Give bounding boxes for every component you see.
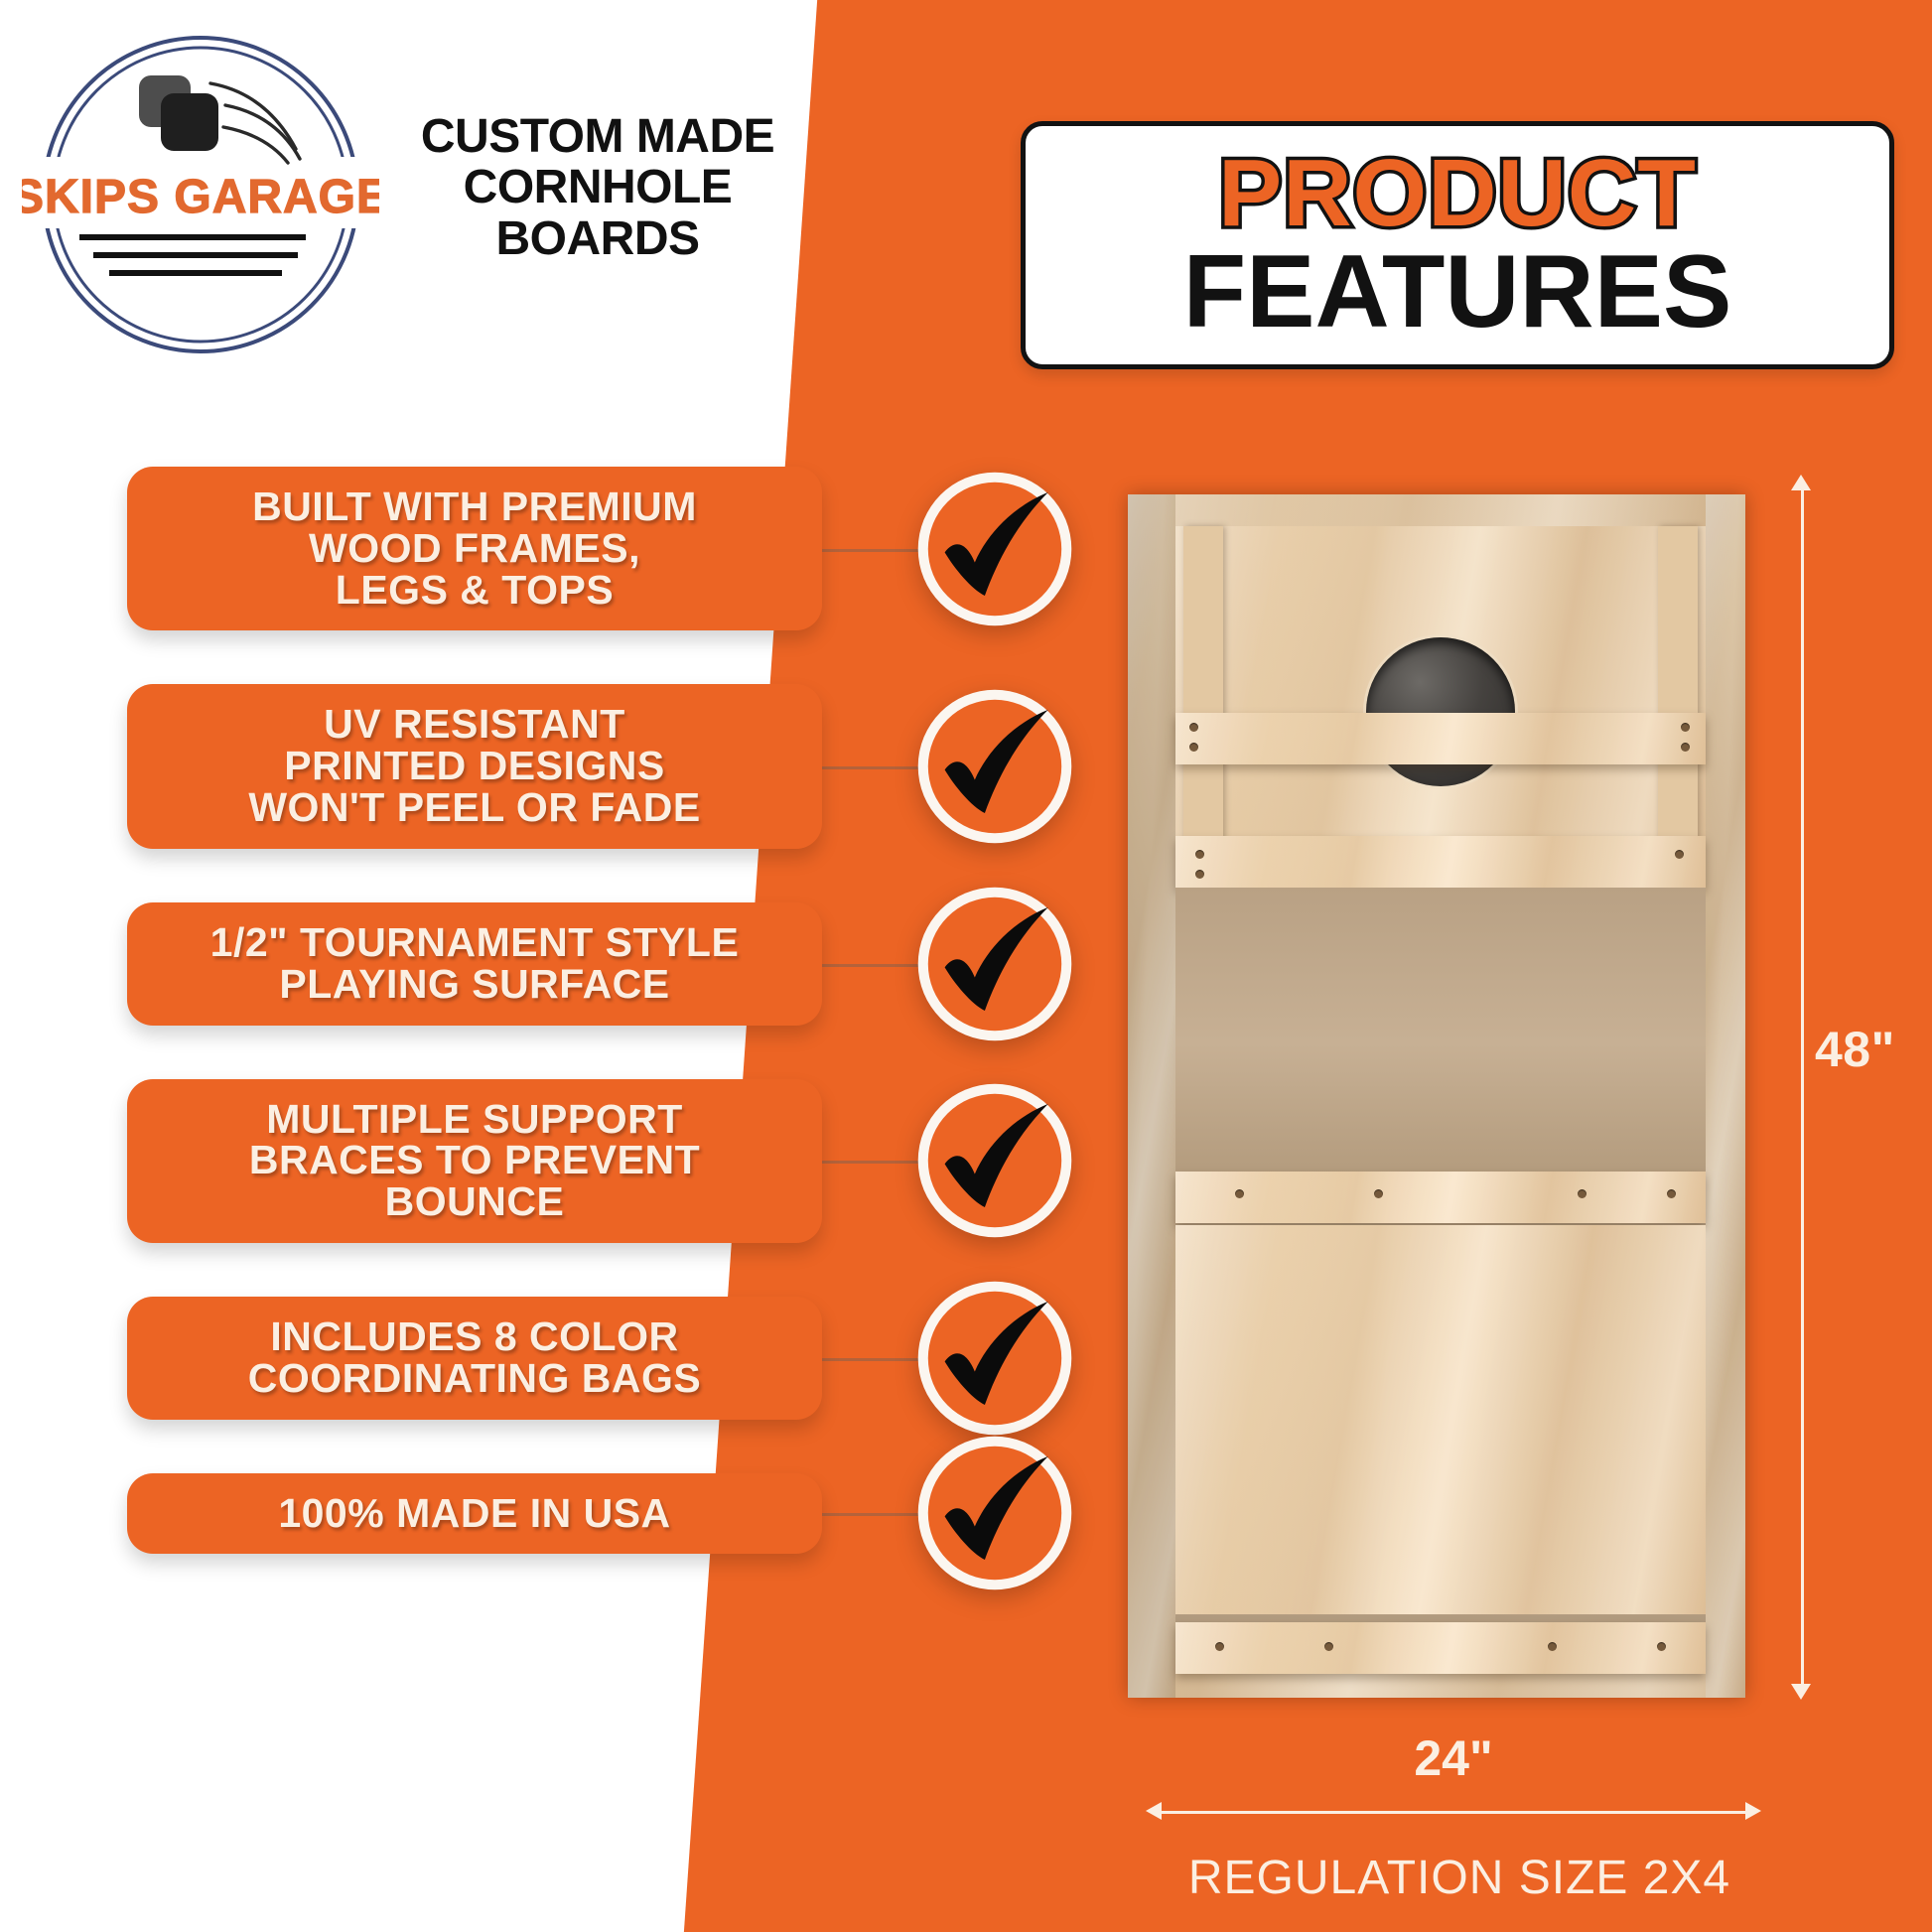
board-frame-right-rail (1706, 494, 1745, 1698)
feature-text-line: PRINTED DESIGNS (153, 746, 796, 787)
feature-pill[interactable]: UV RESISTANT PRINTED DESIGNS WON'T PEEL … (127, 684, 822, 848)
logo-wordmark: SKIPS GARAGE (22, 171, 379, 223)
support-brace (1175, 836, 1706, 888)
width-dimension-arrow (1146, 1809, 1761, 1815)
height-dimension-label: 48" (1815, 1021, 1895, 1078)
inner-rail-right (1658, 526, 1698, 854)
feature-text-line: BOUNCE (153, 1181, 796, 1223)
arrow-right-icon (1745, 1802, 1761, 1820)
headline-line-2: CORNHOLE (379, 162, 816, 212)
feature-row: 1/2" TOURNAMENT STYLE PLAYING SURFACE (0, 902, 1122, 1026)
board-frame-left-rail (1128, 494, 1175, 1698)
checkmark-icon (911, 1077, 1078, 1244)
cornhole-board-photo (1128, 494, 1745, 1698)
feature-text-line: INCLUDES 8 COLOR (153, 1316, 796, 1358)
page-title: CUSTOM MADE CORNHOLE BOARDS (379, 111, 816, 264)
feature-text-line: UV RESISTANT (153, 704, 796, 746)
feature-pill[interactable]: MULTIPLE SUPPORT BRACES TO PREVENT BOUNC… (127, 1079, 822, 1243)
feature-pill[interactable]: INCLUDES 8 COLOR COORDINATING BAGS (127, 1297, 822, 1420)
checkmark-icon (911, 466, 1078, 632)
width-dimension-label: 24" (1146, 1729, 1761, 1787)
feature-row: MULTIPLE SUPPORT BRACES TO PREVENT BOUNC… (0, 1079, 1122, 1243)
product-features-banner: PRODUCT FEATURES (1021, 121, 1894, 369)
checkmark-icon (911, 881, 1078, 1047)
dimension-line (1801, 486, 1804, 1688)
feature-list: BUILT WITH PREMIUM WOOD FRAMES, LEGS & T… (0, 467, 1122, 1607)
support-brace (1175, 1172, 1706, 1223)
arrow-down-icon (1791, 1684, 1811, 1700)
feature-text-line: PLAYING SURFACE (153, 964, 796, 1006)
inner-rail-left (1183, 526, 1223, 854)
feature-pill[interactable]: BUILT WITH PREMIUM WOOD FRAMES, LEGS & T… (127, 467, 822, 630)
feature-row: BUILT WITH PREMIUM WOOD FRAMES, LEGS & T… (0, 467, 1122, 630)
headline-line-1: CUSTOM MADE (379, 111, 816, 162)
support-brace (1175, 713, 1706, 764)
feature-text-line: COORDINATING BAGS (153, 1358, 796, 1400)
dimension-line (1158, 1811, 1749, 1814)
height-dimension-arrow (1799, 475, 1805, 1700)
checkmark-icon (911, 1275, 1078, 1442)
headline-line-3: BOARDS (379, 213, 816, 264)
feature-text-line: WOOD FRAMES, (153, 528, 796, 570)
board-lower-panel (1175, 1225, 1706, 1614)
feature-text-line: BUILT WITH PREMIUM (153, 486, 796, 528)
feature-text-line: BRACES TO PREVENT (153, 1140, 796, 1181)
feature-text-line: 1/2" TOURNAMENT STYLE (153, 922, 796, 964)
feature-text-line: WON'T PEEL OR FADE (153, 787, 796, 829)
support-brace-bottom (1175, 1622, 1706, 1674)
feature-text-line: LEGS & TOPS (153, 570, 796, 612)
feature-row: UV RESISTANT PRINTED DESIGNS WON'T PEEL … (0, 684, 1122, 848)
banner-word-product: PRODUCT (1218, 147, 1697, 240)
feature-text-line: MULTIPLE SUPPORT (153, 1099, 796, 1141)
feature-row: INCLUDES 8 COLOR COORDINATING BAGS (0, 1297, 1122, 1420)
brand-logo: SKIPS GARAGE (22, 18, 379, 375)
board-mid-cavity (1175, 888, 1706, 1172)
feature-pill[interactable]: 1/2" TOURNAMENT STYLE PLAYING SURFACE (127, 902, 822, 1026)
banner-word-features: FEATURES (1183, 242, 1732, 344)
regulation-size-caption: REGULATION SIZE 2X4 (1072, 1851, 1847, 1905)
board-interior-cavity (1175, 526, 1706, 1674)
checkmark-icon (911, 683, 1078, 850)
feature-row: 100% MADE IN USA (0, 1473, 1122, 1555)
checkmark-icon (911, 1430, 1078, 1596)
feature-text-line: 100% MADE IN USA (153, 1493, 796, 1535)
feature-pill[interactable]: 100% MADE IN USA (127, 1473, 822, 1555)
